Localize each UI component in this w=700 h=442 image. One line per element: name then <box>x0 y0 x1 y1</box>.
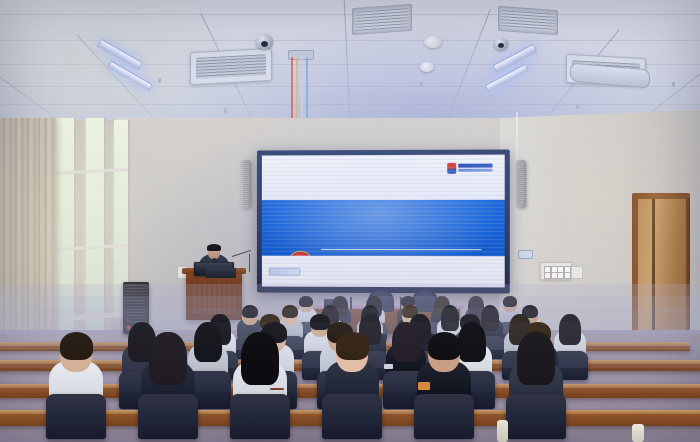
suspended-ceiling <box>0 0 700 132</box>
ac-vent-grille <box>498 6 558 35</box>
security-camera-dome <box>256 34 273 49</box>
attendee-hair <box>559 314 581 345</box>
wall-mounted-speaker <box>241 160 251 208</box>
light-switch-button[interactable] <box>564 272 571 279</box>
logo-mark-icon <box>447 162 456 173</box>
attendee-hair <box>194 322 223 363</box>
attendee-hair <box>336 332 369 360</box>
screen-control-panel[interactable] <box>518 250 533 259</box>
camera-lens <box>261 41 268 47</box>
attendee-hair <box>241 332 278 385</box>
right-wooden-door[interactable] <box>632 193 690 353</box>
sprinkler-head <box>224 108 227 113</box>
wall-mounted-speaker <box>516 160 526 208</box>
attendee-hair <box>503 296 517 307</box>
attendee-hair <box>517 332 554 385</box>
attendee-hair <box>310 314 330 330</box>
thermostat-switch[interactable] <box>571 266 583 279</box>
water-bottle <box>632 424 644 442</box>
audience-chair <box>506 394 566 440</box>
sprinkler-head <box>420 82 423 87</box>
slide-bottom-area <box>262 256 505 288</box>
lectern-front-panel <box>193 282 235 314</box>
sprinkler-head <box>576 104 579 109</box>
window-mullion <box>104 118 106 330</box>
smoke-detector <box>424 36 442 48</box>
smoke-detector <box>420 62 434 72</box>
presenter-hair <box>207 244 221 251</box>
gooseneck-microphone <box>232 254 252 272</box>
attendee-hair <box>282 305 299 319</box>
attendee-hair <box>458 322 487 363</box>
ac-vent-grille <box>352 4 412 35</box>
table-microphone <box>350 297 352 310</box>
logo-wordmark <box>458 164 492 172</box>
state-taxation-administration-logo <box>447 162 492 174</box>
projection-screen: 个人所得税综合所得 2022年度汇算 <box>257 150 510 294</box>
speaker-grille <box>126 285 146 322</box>
audience-chair <box>46 394 106 440</box>
slide-title-band: 个人所得税综合所得 2022年度汇算 <box>262 200 505 256</box>
mic-pole <box>249 254 250 272</box>
logo-text-line-1 <box>458 164 492 168</box>
cassette-grille <box>196 54 266 79</box>
hanging-cable-bundle <box>289 57 311 123</box>
light-switch-panel[interactable] <box>540 262 572 280</box>
water-bottle <box>497 420 508 442</box>
attendee-hair <box>149 332 186 385</box>
attendee-hair <box>481 305 500 331</box>
conference-room-photo: 个人所得税综合所得 2022年度汇算 <box>0 0 700 442</box>
logo-text-line-2 <box>458 169 492 172</box>
camera-lens <box>498 43 504 48</box>
ac-cassette-unit <box>190 48 272 85</box>
window-curtain <box>40 118 56 362</box>
audience-chair <box>322 394 382 440</box>
audience-chair <box>230 394 290 440</box>
phone-on-desk <box>384 364 393 369</box>
attendee-hair <box>242 305 259 319</box>
window-mullion <box>74 118 76 348</box>
audience-chair <box>138 394 198 440</box>
booklet-on-desk <box>418 382 430 390</box>
security-camera-dome <box>494 38 508 50</box>
attendee-hair <box>299 296 313 307</box>
sprinkler-head <box>672 82 675 87</box>
audience-chair <box>414 394 474 440</box>
sprinkler-head <box>158 78 161 83</box>
slide-footer-tag <box>269 268 301 276</box>
vent-slats <box>356 8 408 31</box>
attendee-hair <box>441 305 460 331</box>
vent-slats <box>502 10 554 31</box>
wooden-lectern <box>186 272 242 320</box>
pen-on-desk <box>270 388 284 390</box>
window-pane <box>54 118 74 348</box>
projected-slide: 个人所得税综合所得 2022年度汇算 <box>262 155 505 288</box>
window-pane <box>86 118 104 330</box>
speaker-power-led-icon <box>127 326 130 329</box>
attendee-hair <box>60 332 93 360</box>
attendee-hair <box>392 322 421 363</box>
attendee-hair <box>428 332 461 360</box>
